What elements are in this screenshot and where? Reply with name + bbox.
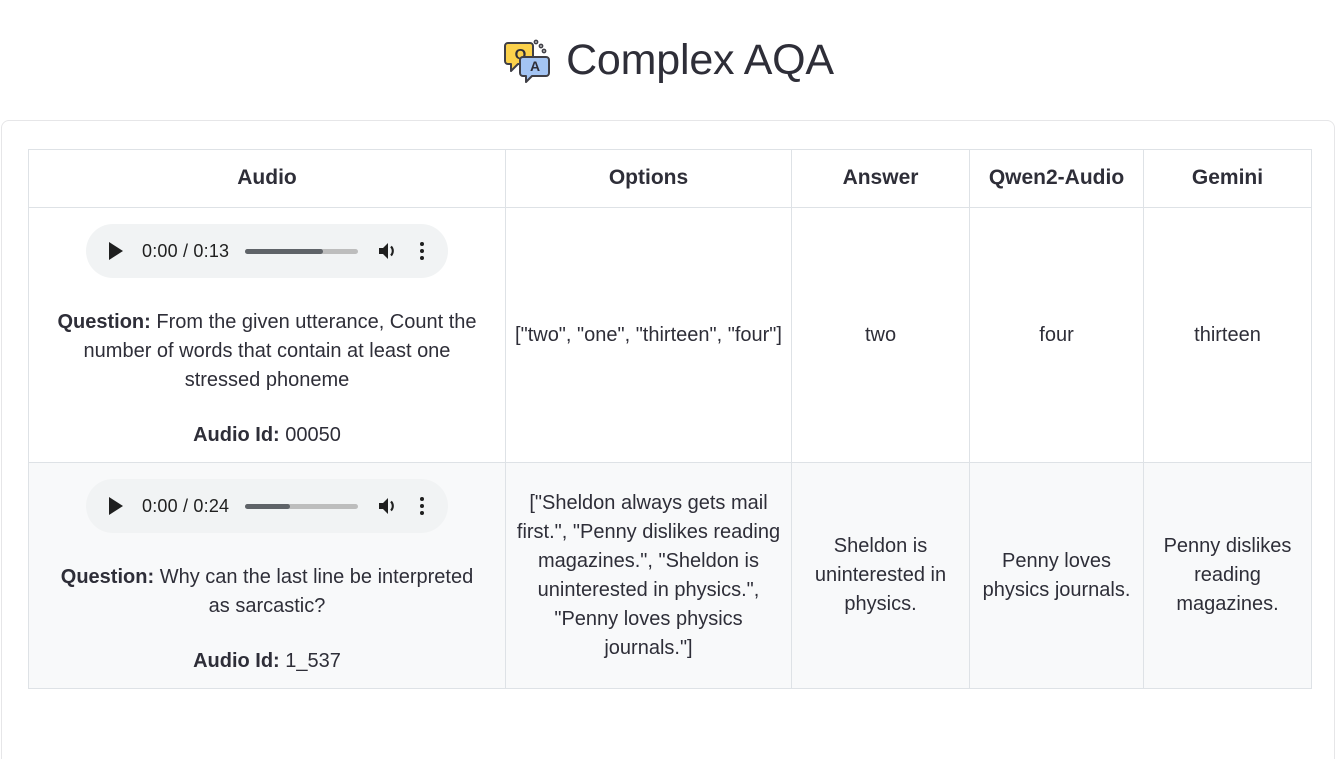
volume-icon[interactable] (376, 239, 400, 263)
audio-id-line: Audio Id: 00050 (51, 421, 483, 450)
table-body: 0:00 / 0:13 (29, 208, 1312, 689)
options-cell: ["two", "one", "thirteen", "four"] (506, 208, 792, 463)
audio-id-label: Audio Id: (193, 650, 280, 672)
column-header-audio[interactable]: Audio (29, 150, 506, 208)
audio-id-value: 1_537 (285, 650, 341, 672)
more-vertical-icon[interactable] (412, 494, 432, 518)
results-table: Audio Options Answer Qwen2-Audio Gemini (28, 149, 1312, 689)
audio-id-label: Audio Id: (193, 424, 280, 446)
table-row: 0:00 / 0:24 (29, 463, 1312, 689)
audio-cell: 0:00 / 0:13 (29, 208, 506, 463)
audio-cell: 0:00 / 0:24 (29, 463, 506, 689)
audio-id-line: Audio Id: 1_537 (51, 647, 483, 676)
svg-text:A: A (530, 58, 540, 74)
audio-progress-fill (245, 249, 323, 254)
audio-player[interactable]: 0:00 / 0:13 (86, 224, 448, 278)
qwen2-audio-cell: Penny loves physics journals. (970, 463, 1144, 689)
play-icon[interactable] (104, 239, 128, 263)
column-header-gemini[interactable]: Gemini (1144, 150, 1312, 208)
question-text: Why can the last line be interpreted as … (160, 566, 474, 617)
question-line: Question: Why can the last line be inter… (51, 563, 483, 621)
question-label: Question: (61, 566, 154, 588)
audio-time-display: 0:00 / 0:24 (142, 493, 229, 519)
audio-progress-track[interactable] (245, 249, 358, 254)
question-line: Question: From the given utterance, Coun… (51, 308, 483, 395)
audio-time-display: 0:00 / 0:13 (142, 238, 229, 264)
gemini-cell: thirteen (1144, 208, 1312, 463)
audio-progress-track[interactable] (245, 504, 358, 509)
audio-player[interactable]: 0:00 / 0:24 (86, 479, 448, 533)
options-cell: ["Sheldon always gets mail first.", "Pen… (506, 463, 792, 689)
page-header: Q A Complex AQA (0, 0, 1336, 120)
question-label: Question: (57, 311, 150, 333)
results-card: Audio Options Answer Qwen2-Audio Gemini (1, 120, 1335, 759)
table-row: 0:00 / 0:13 (29, 208, 1312, 463)
column-header-options[interactable]: Options (506, 150, 792, 208)
qwen2-audio-cell: four (970, 208, 1144, 463)
audio-id-value: 00050 (285, 424, 341, 446)
results-table-wrapper: Audio Options Answer Qwen2-Audio Gemini (28, 149, 1311, 689)
answer-cell: two (792, 208, 970, 463)
answer-cell: Sheldon is uninterested in physics. (792, 463, 970, 689)
gemini-cell: Penny dislikes reading magazines. (1144, 463, 1312, 689)
more-vertical-icon[interactable] (412, 239, 432, 263)
column-header-qwen2-audio[interactable]: Qwen2-Audio (970, 150, 1144, 208)
column-header-answer[interactable]: Answer (792, 150, 970, 208)
app-root: Q A Complex AQA Audio Options (0, 0, 1336, 759)
page-title: Complex AQA (566, 39, 834, 82)
table-head: Audio Options Answer Qwen2-Audio Gemini (29, 150, 1312, 208)
volume-icon[interactable] (376, 494, 400, 518)
audio-progress-fill (245, 504, 290, 509)
play-icon[interactable] (104, 494, 128, 518)
question-answer-bubbles-icon: Q A (502, 35, 554, 87)
table-header-row: Audio Options Answer Qwen2-Audio Gemini (29, 150, 1312, 208)
